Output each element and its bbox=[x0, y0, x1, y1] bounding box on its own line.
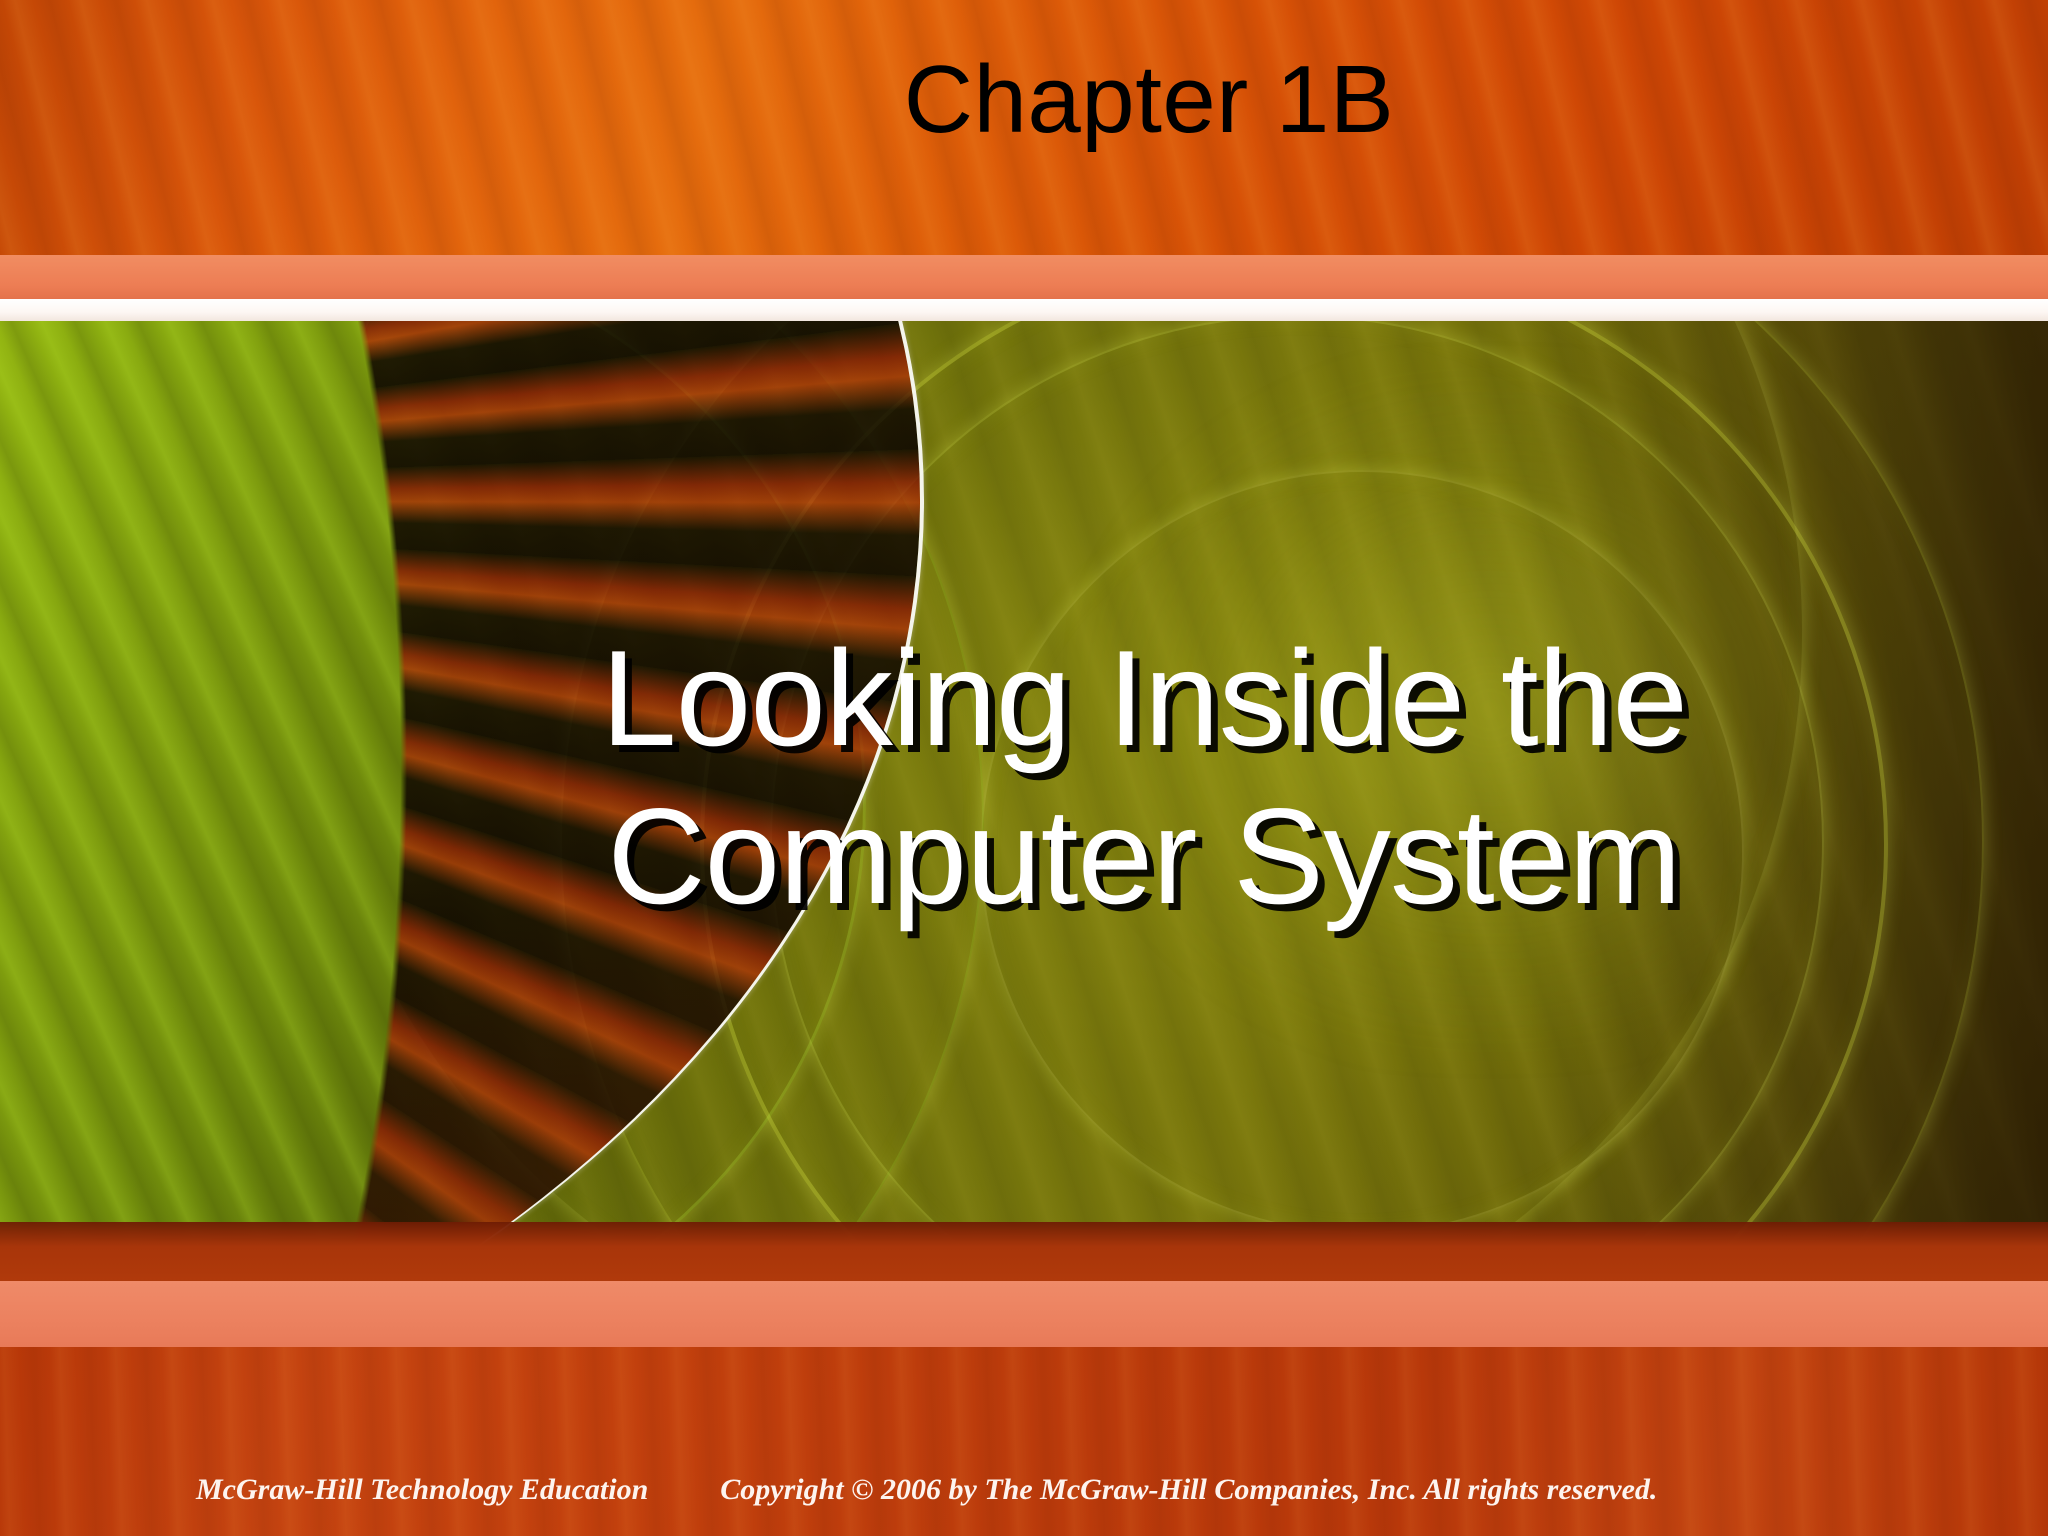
slide-title-line-2: Computer System bbox=[360, 778, 1928, 936]
bottom-dark-band bbox=[0, 1222, 2048, 1284]
slide-title-line-1: Looking Inside the bbox=[360, 620, 1928, 778]
chapter-label: Chapter 1B bbox=[0, 50, 2048, 151]
footer-copyright: Copyright © 2006 by The McGraw-Hill Comp… bbox=[720, 1473, 1657, 1507]
slide-title: Looking Inside the Computer System bbox=[360, 620, 1928, 936]
bottom-salmon-band bbox=[0, 1281, 2048, 1347]
top-salmon-band bbox=[0, 255, 2048, 299]
presentation-slide: Chapter 1B Looking Inside the Computer S… bbox=[0, 0, 2048, 1536]
top-white-band bbox=[0, 299, 2048, 321]
slide-footer: McGraw-Hill Technology Education Copyrig… bbox=[0, 1464, 2048, 1516]
footer-brand: McGraw-Hill Technology Education bbox=[196, 1473, 648, 1507]
